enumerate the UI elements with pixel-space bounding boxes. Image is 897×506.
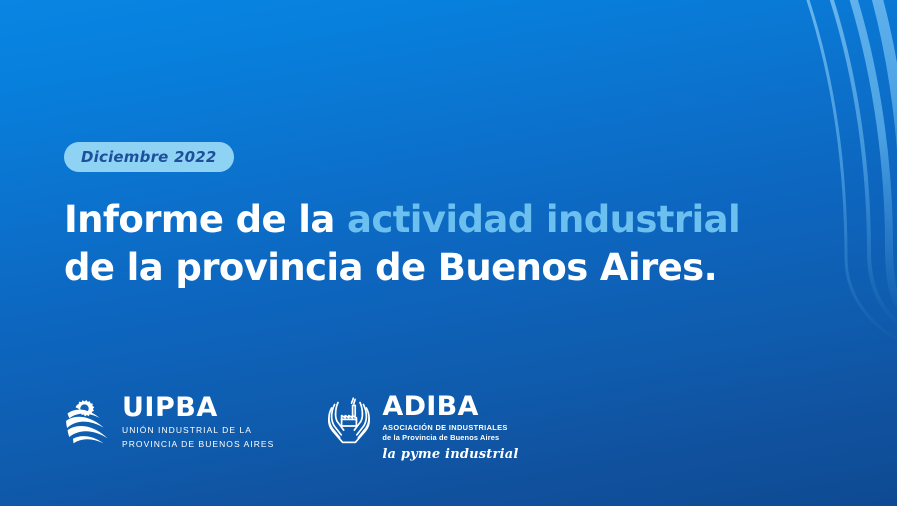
adiba-text-block: ADIBA ASOCIACIÓN DE INDUSTRIALES de la P… — [382, 392, 518, 463]
uipba-text-block: UIPBA UNIÓN INDUSTRIAL DE LA PROVINCIA D… — [122, 392, 274, 450]
page-title-line-1: Informe de la actividad industrial — [64, 196, 824, 244]
adiba-wordmark: ADIBA — [382, 393, 518, 421]
logo-row: UIPBA UNIÓN INDUSTRIAL DE LA PROVINCIA D… — [62, 392, 518, 463]
date-badge-label: Diciembre 2022 — [81, 148, 217, 166]
uipba-logo: UIPBA UNIÓN INDUSTRIAL DE LA PROVINCIA D… — [62, 392, 274, 450]
adiba-tagline: la pyme industrial — [382, 447, 518, 463]
adiba-subtitle-line-1: ASOCIACIÓN DE INDUSTRIALES — [382, 423, 518, 433]
adiba-logo: ADIBA ASOCIACIÓN DE INDUSTRIALES de la P… — [324, 392, 518, 463]
date-badge: Diciembre 2022 — [64, 142, 234, 172]
uipba-subtitle-line-1: UNIÓN INDUSTRIAL DE LA — [122, 425, 274, 436]
adiba-subtitle-line-2: de la Provincia de Buenos Aires — [382, 433, 518, 443]
page-title: Informe de la actividad industrial de la… — [64, 196, 824, 292]
page-title-plain-text: Informe de la — [64, 198, 347, 241]
uipba-globe-icon — [62, 396, 112, 444]
adiba-hands-factory-icon — [324, 394, 374, 446]
page-title-accent-text: actividad industrial — [347, 198, 740, 241]
title-slide: Diciembre 2022 Informe de la actividad i… — [0, 0, 897, 506]
uipba-wordmark: UIPBA — [122, 394, 274, 422]
uipba-subtitle-line-2: PROVINCIA DE BUENOS AIRES — [122, 439, 274, 450]
page-title-line-2: de la provincia de Buenos Aires. — [64, 244, 824, 292]
